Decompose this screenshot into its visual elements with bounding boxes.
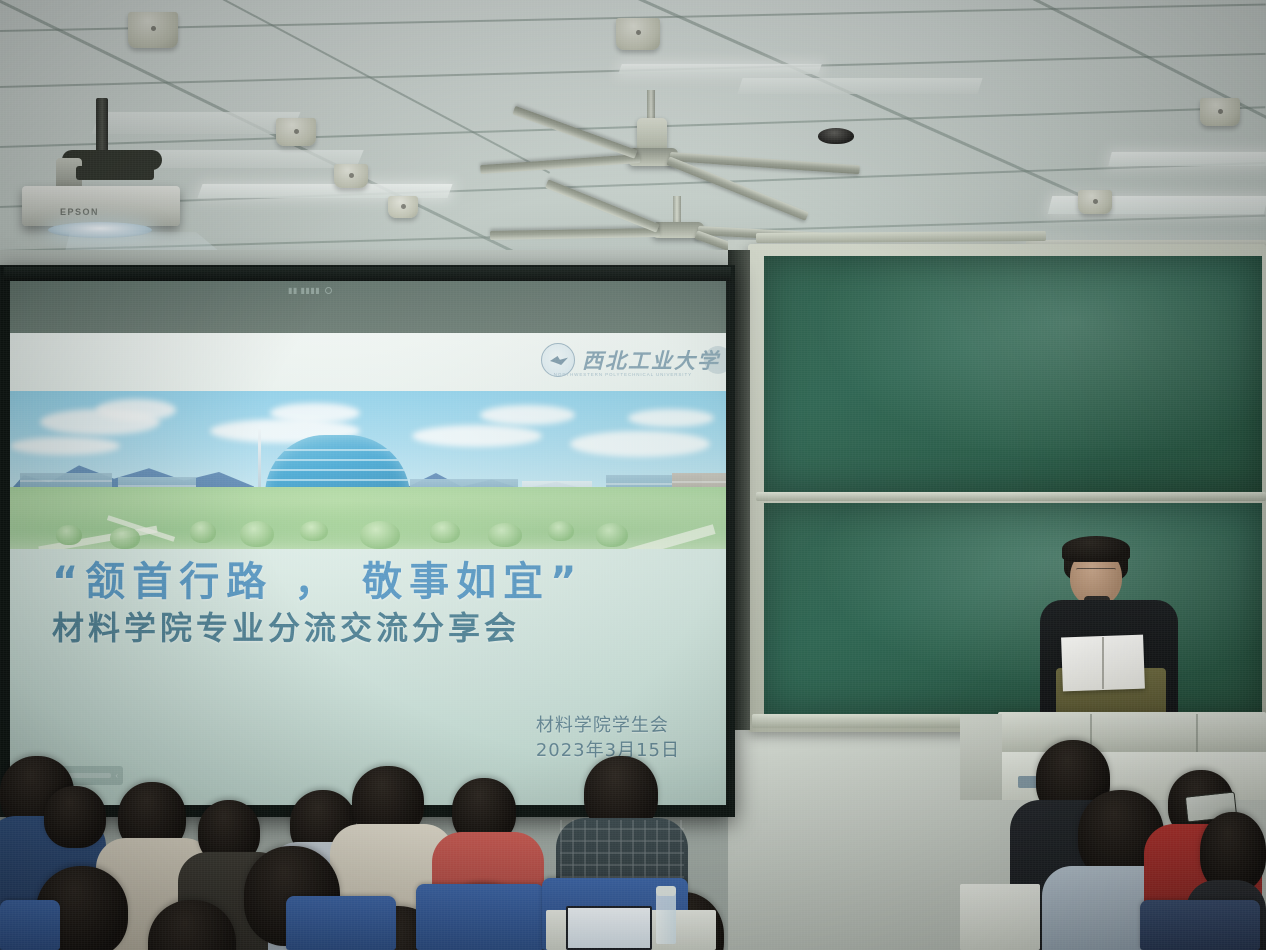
os-status-bar: ▮▮ ▮▮▮▮	[288, 283, 458, 297]
classroom-scene: EPSON ▮▮ ▮▮▮▮	[0, 0, 1266, 950]
cloud	[96, 399, 176, 421]
tree	[190, 521, 216, 543]
cloud	[628, 409, 714, 427]
presenter-glasses	[1076, 568, 1116, 573]
fluorescent-light	[618, 64, 822, 74]
logo-chip	[704, 346, 726, 374]
book-spine	[1102, 637, 1104, 689]
screen-surface: ▮▮ ▮▮▮▮ 西北工业大学 NORTHWESTERN POLYTECHNICA…	[10, 281, 726, 805]
antenna-tower	[258, 429, 261, 491]
projector-brand-label: EPSON	[60, 207, 99, 217]
slide-credit-block: 材料学院学生会 2023年3月15日	[536, 714, 680, 763]
status-bar-text: ▮▮ ▮▮▮▮	[288, 286, 320, 295]
ceiling-panel	[737, 78, 982, 94]
ceiling-speaker	[388, 196, 418, 218]
smoke-detector-icon	[818, 128, 854, 144]
fan-blade	[512, 106, 637, 159]
tree	[488, 523, 522, 547]
ceiling-speaker	[616, 18, 660, 50]
projector	[22, 186, 180, 226]
cloud	[570, 431, 710, 457]
slide-organization: 材料学院学生会	[536, 714, 680, 738]
ceiling-beam	[599, 0, 1112, 211]
water-bottle	[656, 892, 676, 944]
tree	[56, 525, 82, 545]
audience-head	[44, 786, 106, 848]
slide-header: 西北工业大学 NORTHWESTERN POLYTECHNICAL UNIVER…	[10, 333, 726, 391]
tree	[110, 527, 140, 549]
laptop	[566, 906, 652, 950]
presenter-hair-top	[1062, 536, 1130, 562]
podium-seam	[1196, 714, 1198, 754]
chair-back	[1140, 900, 1260, 950]
desktop-letterbox: ▮▮ ▮▮▮▮	[10, 281, 726, 333]
bottle-cap	[656, 886, 676, 896]
fan-blade	[545, 179, 660, 232]
blackboard-panel-upper	[764, 256, 1262, 492]
projector-bracket-arm	[76, 166, 154, 180]
fan-blade	[490, 228, 660, 240]
cloud	[270, 403, 360, 423]
power-icon	[325, 287, 332, 294]
chair-back	[286, 896, 396, 950]
ceiling-beam	[979, 0, 1266, 164]
ceiling-panel	[92, 112, 301, 134]
cloud	[412, 425, 542, 447]
blackboard-divider	[756, 492, 1266, 501]
projection-screen: ▮▮ ▮▮▮▮ 西北工业大学 NORTHWESTERN POLYTECHNICA…	[0, 265, 735, 817]
podium	[998, 712, 1266, 756]
chair-back	[416, 884, 544, 950]
ceiling-speaker	[334, 164, 368, 188]
cloud	[10, 437, 120, 455]
tree	[360, 521, 400, 549]
campus-greenery	[10, 487, 726, 549]
campus-path	[622, 524, 715, 549]
cloud	[480, 405, 575, 425]
tree	[430, 521, 460, 543]
screen-top-bar	[4, 267, 731, 281]
ceiling-speaker	[128, 12, 178, 48]
blackboard-panel-lower	[764, 503, 1262, 715]
blackboard-light-hood	[756, 231, 1046, 243]
desk	[960, 884, 1040, 950]
wall-cabinet	[960, 714, 1002, 800]
slide: 西北工业大学 NORTHWESTERN POLYTECHNICAL UNIVER…	[10, 333, 726, 805]
ceiling-panel	[146, 150, 363, 168]
slide-title: “颔首行路 ， 敬事如宜”	[52, 559, 726, 606]
campus-panorama-image	[10, 391, 726, 549]
ceiling: EPSON	[0, 0, 1266, 272]
slide-subtitle: 材料学院专业分流交流分享会	[52, 608, 726, 648]
ceiling-speaker	[276, 118, 316, 146]
tree	[596, 523, 628, 547]
ceiling-speaker	[1078, 190, 1112, 214]
slide-title-block: “颔首行路 ， 敬事如宜” 材料学院专业分流交流分享会	[10, 559, 726, 648]
ceiling-speaker	[1200, 98, 1240, 126]
tree	[300, 521, 328, 541]
tree	[548, 521, 574, 541]
tree	[240, 521, 274, 547]
chair-back	[0, 900, 60, 950]
university-name-latin: NORTHWESTERN POLYTECHNICAL UNIVERSITY	[554, 372, 692, 377]
fan-blade	[480, 154, 640, 174]
watermark-caret-icon: ‹	[115, 771, 118, 780]
university-name: 西北工业大学	[582, 345, 720, 375]
fluorescent-light	[1108, 152, 1266, 166]
